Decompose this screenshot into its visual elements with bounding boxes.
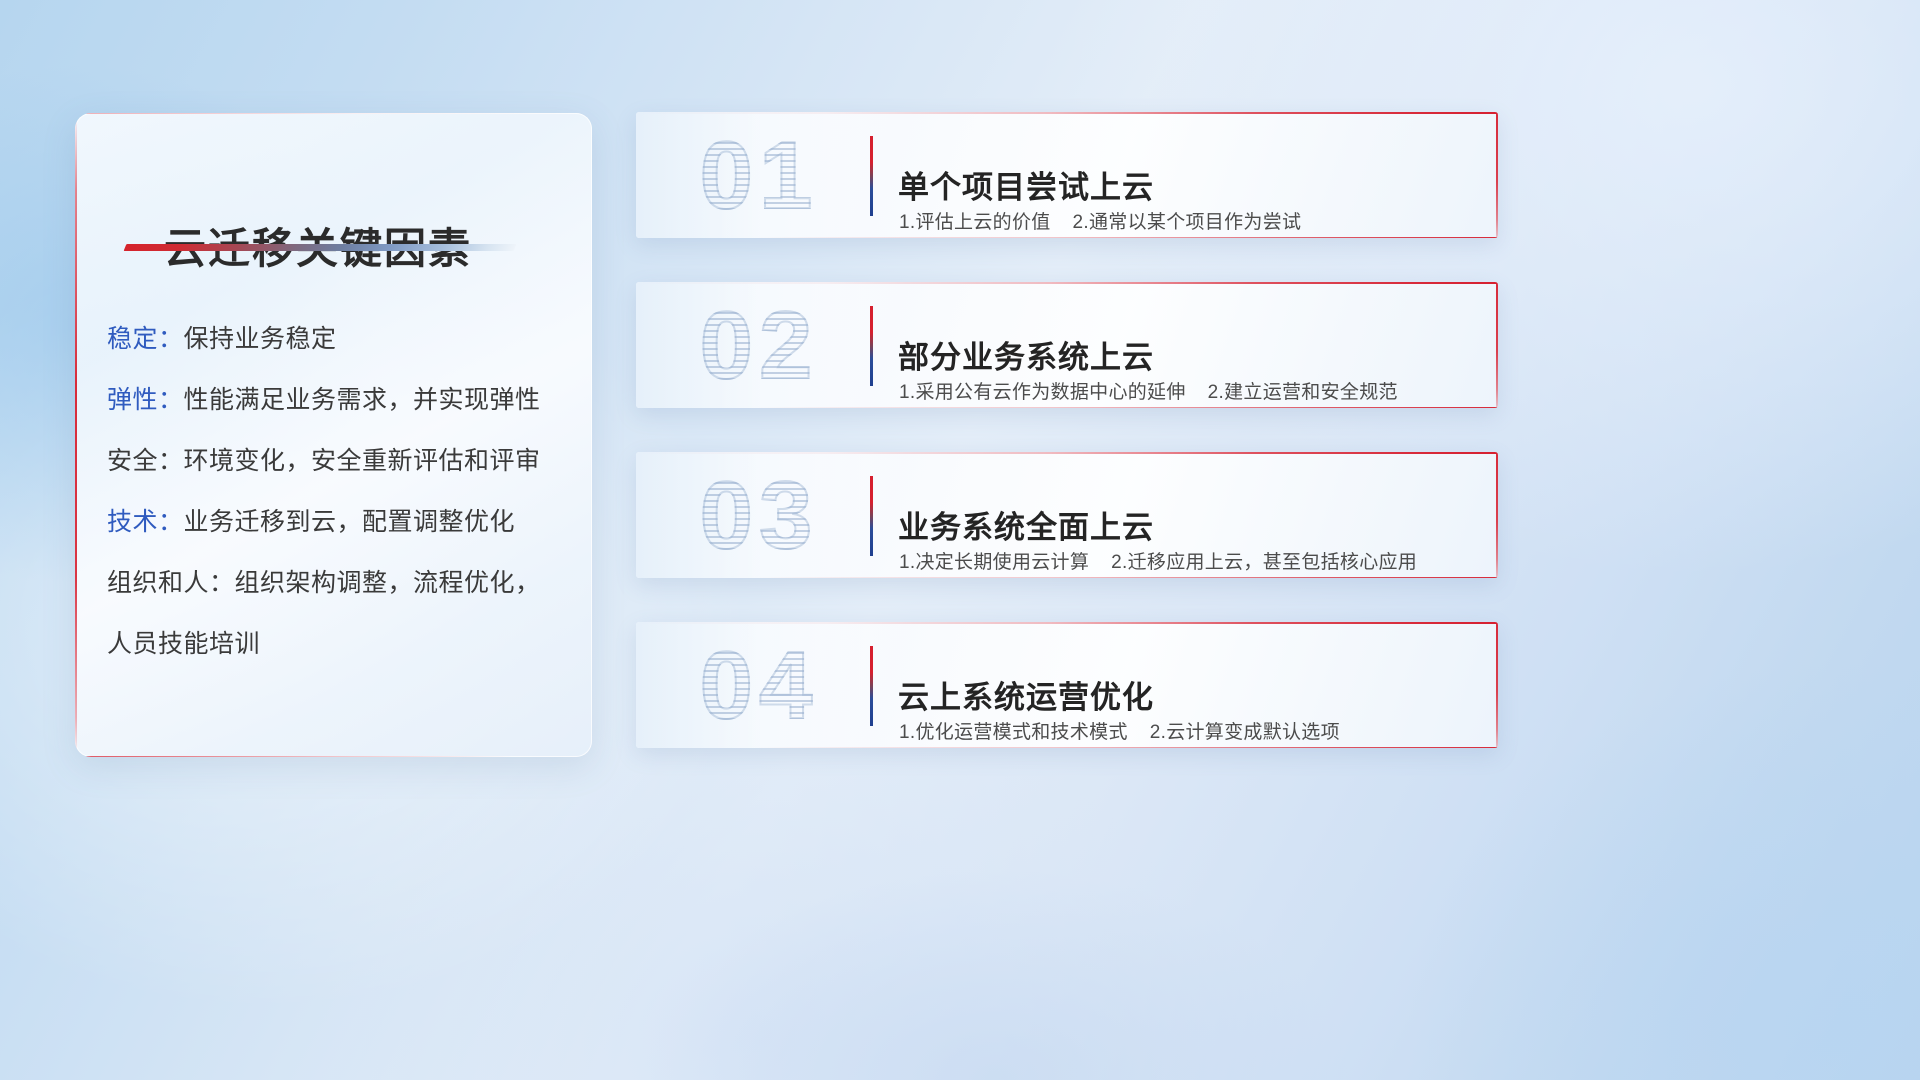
card-bottom-accent-line: [756, 747, 1498, 748]
stage-cards-list: 01 单个项目尝试上云 1.评估上云的价值2.通常以某个项目作为尝试 02 部分…: [636, 112, 1498, 792]
list-item-value: 保持业务稳定: [184, 325, 337, 353]
stage-card[interactable]: 03 业务系统全面上云 1.决定长期使用云计算2.迁移应用上云，甚至包括核心应用: [636, 452, 1498, 578]
stage-number: 02: [664, 288, 854, 404]
list-item: 安全：环境变化，安全重新评估和评审: [107, 431, 576, 492]
card-right-accent-line: [1496, 622, 1498, 748]
title-underline-rule: [124, 244, 517, 251]
panel-bottom-edge: [81, 756, 512, 758]
card-right-accent-line: [1496, 282, 1498, 408]
list-item-key: 技术：: [107, 508, 184, 536]
list-item: 技术：业务迁移到云，配置调整优化: [107, 492, 576, 553]
stage-subtitle-a: 1.优化运营模式和技术模式: [899, 722, 1128, 743]
stage-title: 部分业务系统上云: [898, 332, 1154, 377]
panel-left-accent-bar: [75, 113, 77, 757]
card-top-accent-line: [636, 282, 1498, 284]
stage-card[interactable]: 01 单个项目尝试上云 1.评估上云的价值2.通常以某个项目作为尝试: [636, 112, 1498, 238]
stage-title: 单个项目尝试上云: [898, 162, 1154, 207]
key-factors-panel: 云迁移关键因素 稳定：保持业务稳定 弹性：性能满足业务需求，并实现弹性 安全：环…: [75, 113, 592, 757]
list-item-continuation: 人员技能培训: [107, 614, 576, 675]
stage-subtitle-b: 2.云计算变成默认选项: [1150, 722, 1340, 743]
card-divider-bar: [870, 306, 873, 386]
card-divider-bar: [870, 646, 873, 726]
list-item-value: 性能满足业务需求，并实现弹性: [184, 386, 541, 414]
stage-subtitle-a: 1.采用公有云作为数据中心的延伸: [899, 382, 1186, 403]
list-item-key: 安全：: [107, 447, 184, 475]
card-right-accent-line: [1496, 452, 1498, 578]
stage-title: 业务系统全面上云: [898, 502, 1154, 547]
card-right-accent-line: [1496, 112, 1498, 238]
card-top-accent-line: [636, 112, 1498, 114]
stage-subtitle: 1.优化运营模式和技术模式2.云计算变成默认选项: [899, 717, 1340, 744]
stage-card[interactable]: 04 云上系统运营优化 1.优化运营模式和技术模式2.云计算变成默认选项: [636, 622, 1498, 748]
stage-number: 03: [664, 458, 854, 574]
stage-subtitle-a: 1.评估上云的价值: [899, 212, 1051, 233]
card-bottom-accent-line: [756, 407, 1498, 408]
stage-subtitle-b: 2.建立运营和安全规范: [1208, 382, 1398, 403]
list-item-key: 组织和人：: [107, 569, 235, 597]
list-item: 稳定：保持业务稳定: [107, 309, 576, 370]
card-top-accent-line: [636, 452, 1498, 454]
stage-subtitle-a: 1.决定长期使用云计算: [899, 552, 1089, 573]
list-item: 弹性：性能满足业务需求，并实现弹性: [107, 370, 576, 431]
panel-top-edge: [85, 113, 582, 114]
list-item: 组织和人：组织架构调整，流程优化，: [107, 553, 576, 614]
stage-subtitle-b: 2.迁移应用上云，甚至包括核心应用: [1111, 552, 1417, 573]
stage-card[interactable]: 02 部分业务系统上云 1.采用公有云作为数据中心的延伸2.建立运营和安全规范: [636, 282, 1498, 408]
card-top-accent-line: [636, 622, 1498, 624]
list-item-key: 稳定：: [107, 325, 184, 353]
card-bottom-accent-line: [756, 577, 1498, 578]
list-item-value: 业务迁移到云，配置调整优化: [184, 508, 516, 536]
stage-number: 01: [664, 118, 854, 234]
stage-number: 04: [664, 628, 854, 744]
card-divider-bar: [870, 476, 873, 556]
list-item-value: 组织架构调整，流程优化，: [235, 569, 541, 597]
stage-title: 云上系统运营优化: [898, 672, 1154, 717]
stage-subtitle: 1.采用公有云作为数据中心的延伸2.建立运营和安全规范: [899, 377, 1398, 404]
list-item-key: 弹性：: [107, 386, 184, 414]
card-divider-bar: [870, 136, 873, 216]
key-factors-list: 稳定：保持业务稳定 弹性：性能满足业务需求，并实现弹性 安全：环境变化，安全重新…: [107, 309, 576, 675]
stage-subtitle: 1.评估上云的价值2.通常以某个项目作为尝试: [899, 207, 1301, 234]
stage-subtitle-b: 2.通常以某个项目作为尝试: [1073, 212, 1302, 233]
stage-subtitle: 1.决定长期使用云计算2.迁移应用上云，甚至包括核心应用: [899, 547, 1417, 574]
list-item-value: 人员技能培训: [107, 630, 260, 658]
list-item-value: 环境变化，安全重新评估和评审: [184, 447, 541, 475]
card-bottom-accent-line: [756, 237, 1498, 238]
